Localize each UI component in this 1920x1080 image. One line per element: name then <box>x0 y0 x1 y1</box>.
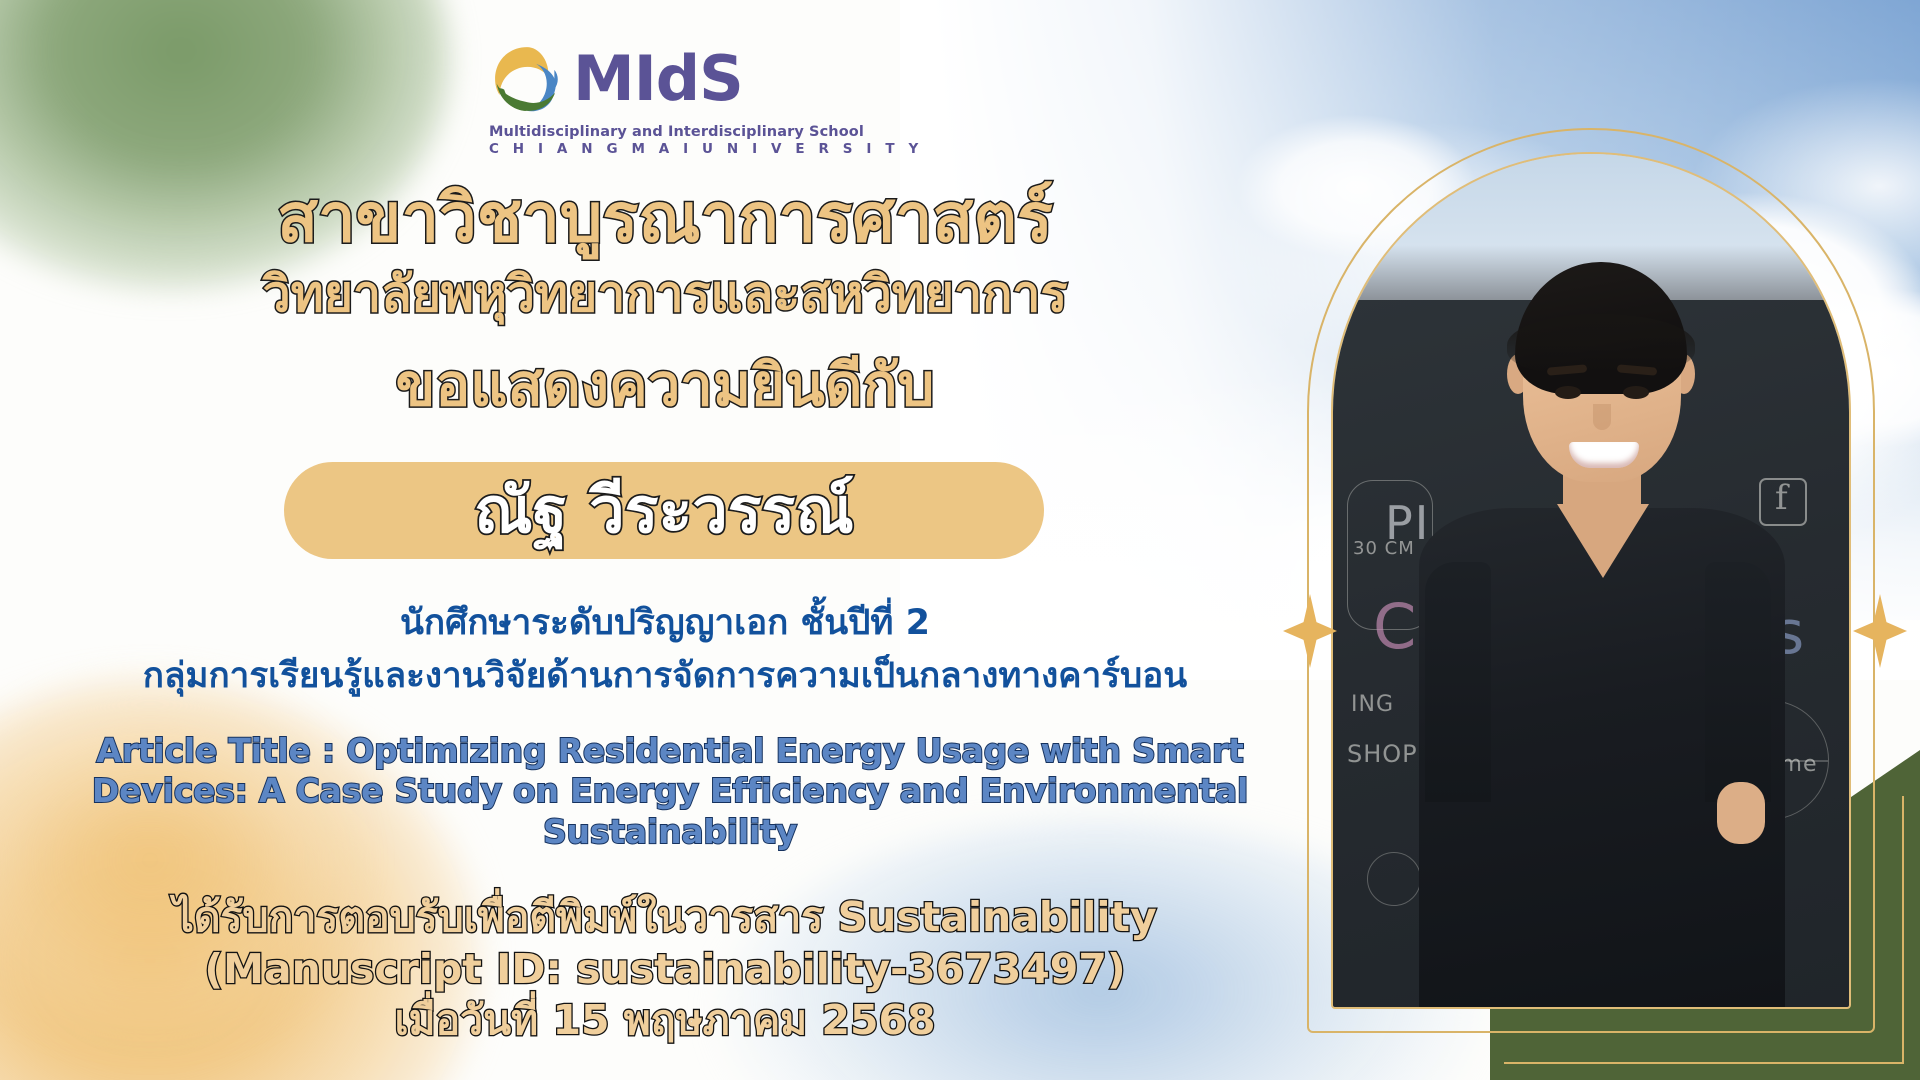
heading-school: วิทยาลัยพหุวิทยาการและสหวิทยาการ <box>0 268 1330 321</box>
honoree-portrait: PI 30 CM CRE tive s ING SHOP where ideas… <box>1333 154 1849 1007</box>
logo-wordmark: MIdS <box>573 48 743 110</box>
student-degree-year: นักศึกษาระดับปริญญาเอก ชั้นปีที่ 2 <box>0 604 1330 643</box>
chalk-bulb-drawing <box>1367 852 1421 906</box>
nose <box>1593 404 1611 430</box>
logo-subtitle-university: C H I A N G M A I U N I V E R S I T Y <box>489 141 809 157</box>
sparkle-icon-left <box>1283 594 1337 668</box>
photo-frame: PI 30 CM CRE tive s ING SHOP where ideas… <box>1331 152 1851 1009</box>
hand-right <box>1717 782 1765 844</box>
congratulations-poster: MIdS Multidisciplinary and Interdiscipli… <box>0 0 1920 1080</box>
acceptance-block: ได้รับการตอบรับเพื่อตีพิมพ์ในวารสาร Sust… <box>0 892 1330 1047</box>
heading-congratulations: ขอแสดงความยินดีกับ <box>0 355 1330 416</box>
chalk-text-shop: SHOP <box>1347 740 1418 768</box>
mids-logo: MIdS Multidisciplinary and Interdiscipli… <box>489 36 809 156</box>
person-figure <box>1429 262 1769 1007</box>
honoree-name-badge: ณัฐ วีระวรรณ์ <box>284 462 1044 559</box>
honoree-name: ณัฐ วีระวรรณ์ <box>474 479 854 542</box>
smile <box>1569 442 1639 468</box>
eye-right <box>1623 386 1649 399</box>
heading-department: สาขาวิชาบูรณาการศาสตร์ <box>0 183 1330 254</box>
logo-subtitle-school: Multidisciplinary and Interdisciplinary … <box>489 124 809 140</box>
acceptance-journal: ได้รับการตอบรับเพื่อตีพิมพ์ในวารสาร Sust… <box>0 892 1330 944</box>
student-research-group: กลุ่มการเรียนรู้และงานวิจัยด้านการจัดการ… <box>0 657 1330 696</box>
article-title: Article Title : Optimizing Residential E… <box>30 731 1310 852</box>
sparkle-icon-right <box>1853 594 1907 668</box>
logo-row: MIdS <box>489 36 809 122</box>
chalk-text-ing: ING <box>1351 692 1394 717</box>
sleeve-left <box>1425 562 1491 802</box>
mids-swirl-icon <box>489 41 565 117</box>
acceptance-manuscript-id: (Manuscript ID: sustainability-3673497) <box>0 944 1330 996</box>
chalk-text-cm: 30 CM <box>1353 538 1415 559</box>
hair <box>1515 262 1687 394</box>
acceptance-date: เมื่อวันที่ 15 พฤษภาคม 2568 <box>0 995 1330 1047</box>
eye-left <box>1555 386 1581 399</box>
sleeve-right <box>1705 562 1771 802</box>
